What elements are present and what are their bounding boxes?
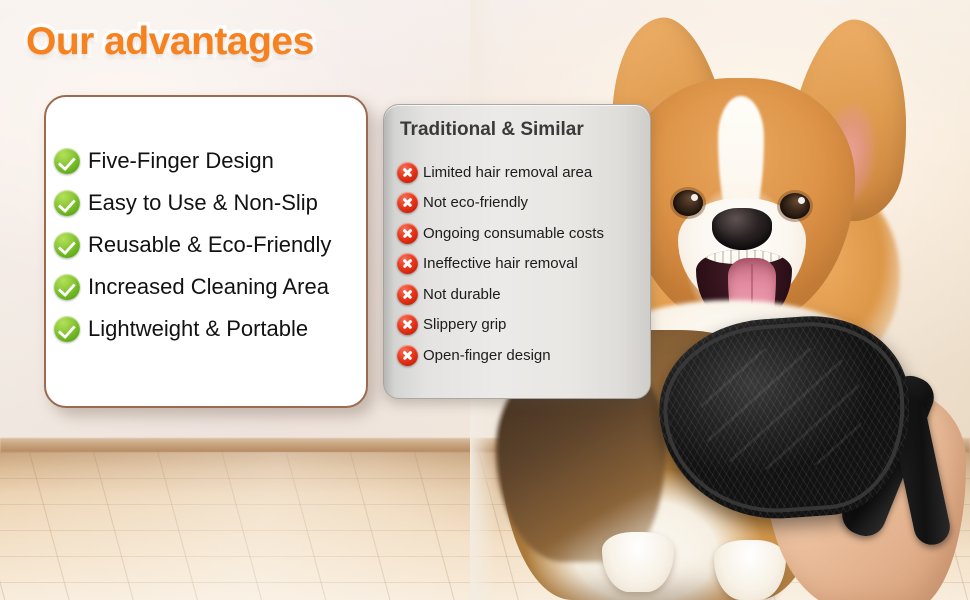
grooming-glove — [653, 310, 916, 527]
dog-eye-right — [780, 193, 810, 219]
list-item: Five-Finger Design — [54, 140, 366, 182]
dog-eye-left — [673, 190, 703, 216]
list-item: Lightweight & Portable — [54, 308, 366, 350]
list-item: Slippery grip — [397, 310, 647, 341]
infographic-stage: Traditional & Similar Limited hair remov… — [0, 0, 970, 600]
pros-list: Five-Finger Design Easy to Use & Non-Sli… — [54, 140, 366, 350]
x-circle-icon — [397, 314, 418, 335]
x-circle-icon — [397, 223, 418, 244]
x-circle-icon — [397, 162, 418, 183]
list-item: Not durable — [397, 279, 647, 310]
cons-item-label: Limited hair removal area — [423, 164, 592, 181]
cons-panel: Traditional & Similar Limited hair remov… — [383, 104, 651, 399]
cons-item-label: Slippery grip — [423, 316, 506, 333]
check-circle-icon — [54, 190, 80, 216]
dog-paw-left — [602, 532, 674, 592]
list-item: Not eco-friendly — [397, 188, 647, 219]
list-item: Ongoing consumable costs — [397, 218, 647, 249]
check-circle-icon — [54, 316, 80, 342]
cons-item-label: Ongoing consumable costs — [423, 225, 604, 242]
list-item: Reusable & Eco-Friendly — [54, 224, 366, 266]
check-circle-icon — [54, 274, 80, 300]
x-circle-icon — [397, 253, 418, 274]
pros-item-label: Increased Cleaning Area — [88, 274, 329, 300]
pros-item-label: Five-Finger Design — [88, 148, 274, 174]
cons-item-label: Open-finger design — [423, 347, 551, 364]
check-circle-icon — [54, 232, 80, 258]
x-circle-icon — [397, 284, 418, 305]
dog-paw-right — [714, 540, 786, 600]
pros-item-label: Reusable & Eco-Friendly — [88, 232, 331, 258]
cons-list: Limited hair removal area Not eco-friend… — [397, 157, 647, 371]
cons-item-label: Not eco-friendly — [423, 194, 528, 211]
list-item: Limited hair removal area — [397, 157, 647, 188]
cons-panel-title: Traditional & Similar — [400, 119, 584, 141]
list-item: Increased Cleaning Area — [54, 266, 366, 308]
list-item: Easy to Use & Non-Slip — [54, 182, 366, 224]
pros-panel: Five-Finger Design Easy to Use & Non-Sli… — [44, 95, 368, 408]
list-item: Ineffective hair removal — [397, 249, 647, 280]
check-circle-icon — [54, 148, 80, 174]
cons-item-label: Not durable — [423, 286, 501, 303]
page-title: Our advantages — [26, 20, 314, 64]
x-circle-icon — [397, 345, 418, 366]
x-circle-icon — [397, 192, 418, 213]
pros-item-label: Easy to Use & Non-Slip — [88, 190, 318, 216]
cons-item-label: Ineffective hair removal — [423, 255, 578, 272]
list-item: Open-finger design — [397, 340, 647, 371]
pros-item-label: Lightweight & Portable — [88, 316, 308, 342]
